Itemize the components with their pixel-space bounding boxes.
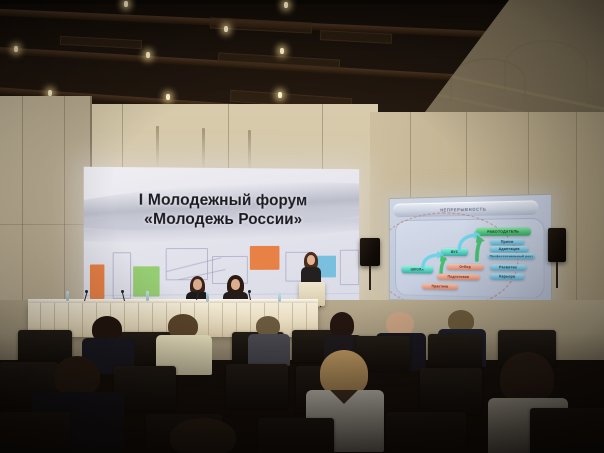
water-bottle — [66, 291, 69, 301]
audience-chair — [386, 412, 466, 453]
ceiling-spotlight — [280, 48, 284, 54]
tag-admission-label: Прием — [501, 240, 514, 244]
pa-speaker-right — [548, 228, 566, 262]
tag-professional-growth-label: Профессиональный рост — [490, 254, 533, 258]
tag-practice-label: Практика — [432, 284, 449, 288]
audience-chair — [0, 412, 70, 453]
tag-career: Карьера — [490, 273, 525, 279]
audience-chair — [258, 418, 334, 453]
main-screen-title: I Молодежный форум «Молодежь России» — [84, 191, 359, 230]
flow-arrow-green-up-right — [468, 234, 490, 262]
main-title-line-2: «Молодежь России» — [84, 210, 359, 229]
audience-chair — [428, 334, 482, 368]
audience-chair — [420, 368, 482, 414]
diagram-panel: ШКОЛА ВУЗ РАБОТОДАТЕЛЬ — [395, 218, 544, 299]
side-projection-screen: НЕПРЕРЫВНОСТЬ ШКОЛА ВУЗ РАБОТОДАТЕЛЬ — [389, 194, 552, 305]
tag-career-label: Карьера — [499, 274, 515, 278]
audience-chair — [530, 408, 604, 453]
tag-selection-label: Отбор — [459, 265, 471, 269]
tag-adaptation-label: Адаптация — [499, 247, 520, 251]
tag-development-label: Развитие — [499, 265, 517, 269]
pa-speaker-left — [360, 238, 380, 266]
ceiling-spotlight — [124, 1, 128, 7]
tag-selection: Отбор — [447, 264, 484, 270]
tag-professional-growth: Профессиональный рост — [488, 253, 535, 259]
main-title-line-1: I Молодежный форум — [139, 192, 308, 210]
audience-chair — [226, 364, 288, 408]
water-bottle — [278, 292, 281, 302]
water-bottle — [146, 291, 149, 301]
tag-preparation: Подготовка — [437, 274, 480, 281]
tag-adaptation: Адаптация — [490, 246, 529, 252]
ceiling-spotlight — [146, 52, 150, 58]
ceiling-spotlight — [166, 94, 170, 100]
tag-development: Развитие — [490, 264, 527, 270]
water-bottle — [206, 292, 209, 302]
ceiling-spotlight — [14, 46, 18, 52]
tag-preparation-label: Подготовка — [448, 275, 469, 279]
ceiling-spotlight — [284, 2, 288, 8]
tag-admission: Прием — [490, 239, 525, 245]
ceiling-spotlight — [224, 26, 228, 32]
ceiling-spotlight — [278, 92, 282, 98]
flow-node-employer-label: РАБОТОДАТЕЛЬ — [487, 229, 519, 233]
tag-practice: Практика — [422, 283, 458, 290]
conference-photo: I Молодежный форум «Молодежь России» НЕП… — [0, 0, 604, 453]
